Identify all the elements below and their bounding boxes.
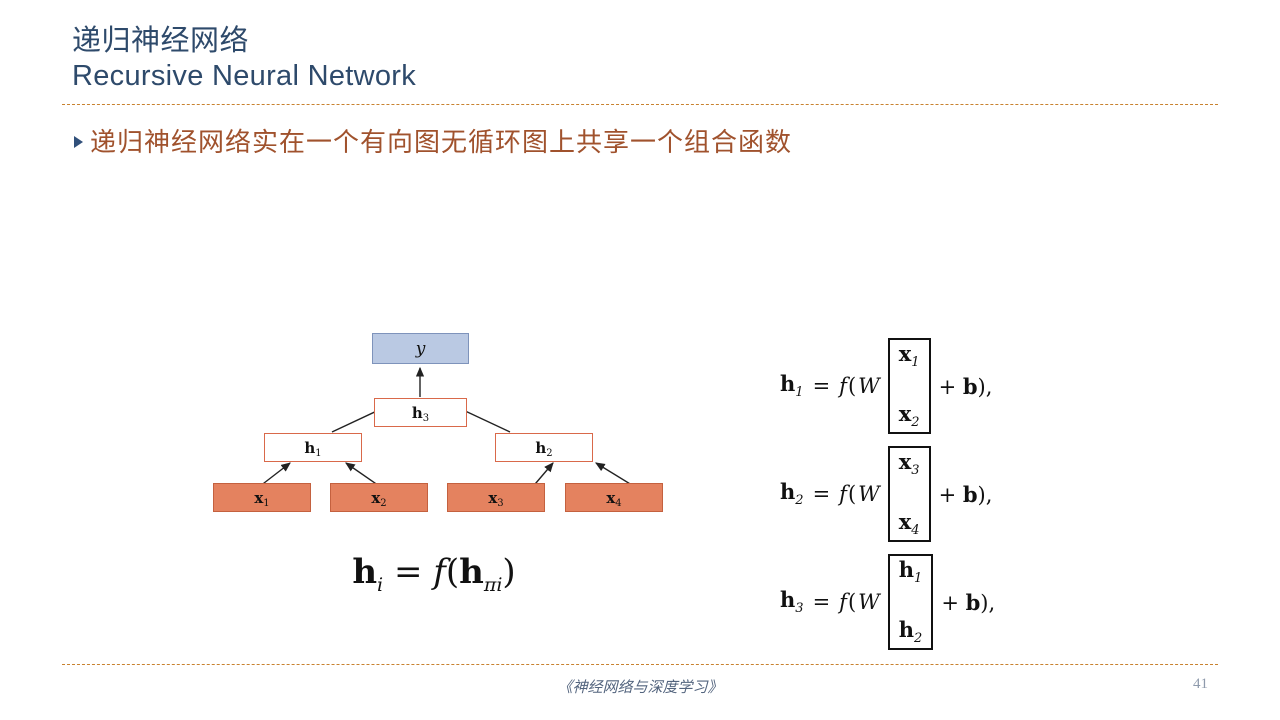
equation-h2-close: ), — [978, 483, 993, 507]
center-formula-arg: h — [459, 552, 484, 592]
node-label-h3: h — [412, 404, 423, 422]
node-label-h1: h — [304, 439, 315, 457]
center-formula-open: ( — [446, 552, 459, 592]
equation-h1-matrix-row0-sub: 1 — [911, 355, 919, 370]
node-output-y: y — [372, 333, 469, 364]
triangle-right-icon — [74, 136, 83, 148]
node-label-x1: x — [254, 489, 263, 507]
node-label-x2: x — [371, 489, 380, 507]
equation-h3-weight: W — [858, 590, 880, 614]
page-title-cn: 递归神经网络 — [72, 24, 416, 59]
equation-h2-lhs-sub: 2 — [795, 494, 803, 509]
node-label-x3: x — [488, 489, 497, 507]
equation-h2-eq: = — [813, 482, 831, 506]
center-formula: hi = f(hπi) — [284, 552, 584, 596]
node-input-x2: x2 — [330, 483, 428, 512]
equation-h2-matrix-row0-sub: 3 — [911, 463, 919, 478]
equation-h2-bias: b — [963, 482, 978, 507]
equation-h3-bias: b — [966, 590, 981, 615]
equation-h1: h1 = f(W x1 x2 + b), — [780, 332, 1080, 440]
node-hidden-h3: h3 — [374, 398, 467, 427]
equation-h2-matrix-row1: x — [899, 509, 912, 534]
node-sub-x1: 1 — [263, 498, 269, 509]
node-hidden-h1: h1 — [264, 433, 362, 462]
equation-h2-fn: f — [839, 482, 847, 506]
equation-h3-close: ), — [980, 591, 995, 615]
equation-h1-open: ( — [848, 374, 856, 398]
center-formula-close: ) — [502, 552, 515, 592]
equation-h3-matrix-row0-sub: 1 — [914, 571, 922, 586]
node-input-x4: x4 — [565, 483, 663, 512]
equation-h1-fn: f — [839, 374, 847, 398]
equation-h3-fn: f — [839, 590, 847, 614]
center-formula-lhs-sub: i — [377, 574, 383, 596]
page-title-en: Recursive Neural Network — [72, 59, 416, 94]
equation-h1-lhs-sub: 1 — [795, 386, 803, 401]
node-sub-x3: 3 — [497, 498, 503, 509]
equation-h3-open: ( — [848, 590, 856, 614]
node-label-x4: x — [606, 489, 615, 507]
bullet-item: 递归神经网络实在一个有向图无循环图上共享一个组合函数 — [74, 122, 792, 159]
equation-h1-matrix-row0: x — [899, 341, 912, 366]
node-hidden-h2: h2 — [495, 433, 593, 462]
node-input-x3: x3 — [447, 483, 545, 512]
equation-h2-open: ( — [848, 482, 856, 506]
node-sub-h1: 1 — [315, 448, 321, 459]
equation-h1-matrix: x1 x2 — [888, 340, 931, 432]
equation-h1-weight: W — [858, 374, 880, 398]
equation-list: h1 = f(W x1 x2 + b), h2 = f(W x3 x4 + b)… — [780, 332, 1080, 656]
equation-h2-matrix-row0: x — [899, 449, 912, 474]
equation-h2-matrix: x3 x4 — [888, 448, 931, 540]
equation-h1-lhs: h — [780, 371, 795, 396]
equation-h2-lhs: h — [780, 479, 795, 504]
equation-h2-plus: + — [939, 483, 957, 507]
footer-divider — [62, 664, 1218, 665]
equation-h3-lhs: h — [780, 587, 795, 612]
center-formula-eq: = — [394, 552, 423, 592]
equation-h3-lhs-sub: 3 — [795, 602, 803, 617]
equation-h3-eq: = — [813, 590, 831, 614]
node-sub-h3: 3 — [423, 413, 429, 424]
node-sub-x4: 4 — [615, 498, 621, 509]
equation-h3-matrix-row1-sub: 2 — [914, 631, 922, 646]
equation-h1-matrix-row1-sub: 2 — [911, 415, 919, 430]
equation-h1-matrix-row1: x — [899, 401, 912, 426]
page-title: 递归神经网络 Recursive Neural Network — [72, 24, 416, 95]
center-formula-fn: f — [433, 552, 446, 592]
node-input-x1: x1 — [213, 483, 311, 512]
equation-h2-weight: W — [858, 482, 880, 506]
equation-h3-matrix: h1 h2 — [888, 556, 934, 648]
equation-h3-plus: + — [941, 591, 959, 615]
center-formula-lhs: h — [352, 552, 377, 592]
footer-book-title: 《神经网络与深度学习》 — [0, 676, 1280, 697]
header-divider — [62, 104, 1218, 105]
equation-h3-matrix-row1: h — [899, 617, 914, 642]
node-label-y: y — [416, 339, 426, 359]
bullet-text: 递归神经网络实在一个有向图无循环图上共享一个组合函数 — [90, 122, 792, 159]
equation-h3: h3 = f(W h1 h2 + b), — [780, 548, 1080, 656]
page-number: 41 — [1193, 676, 1208, 693]
node-label-h2: h — [535, 439, 546, 457]
node-sub-x2: 2 — [380, 498, 386, 509]
node-sub-h2: 2 — [546, 448, 552, 459]
equation-h1-bias: b — [963, 374, 978, 399]
equation-h3-matrix-row0: h — [899, 557, 914, 582]
recursive-tree-diagram: y h3 h1 h2 x1 x2 x3 x4 — [200, 320, 690, 525]
equation-h2-matrix-row1-sub: 4 — [911, 523, 919, 538]
center-formula-arg-sub: πi — [484, 574, 503, 596]
equation-h1-eq: = — [813, 374, 831, 398]
equation-h2: h2 = f(W x3 x4 + b), — [780, 440, 1080, 548]
equation-h1-close: ), — [978, 375, 993, 399]
equation-h1-plus: + — [939, 375, 957, 399]
